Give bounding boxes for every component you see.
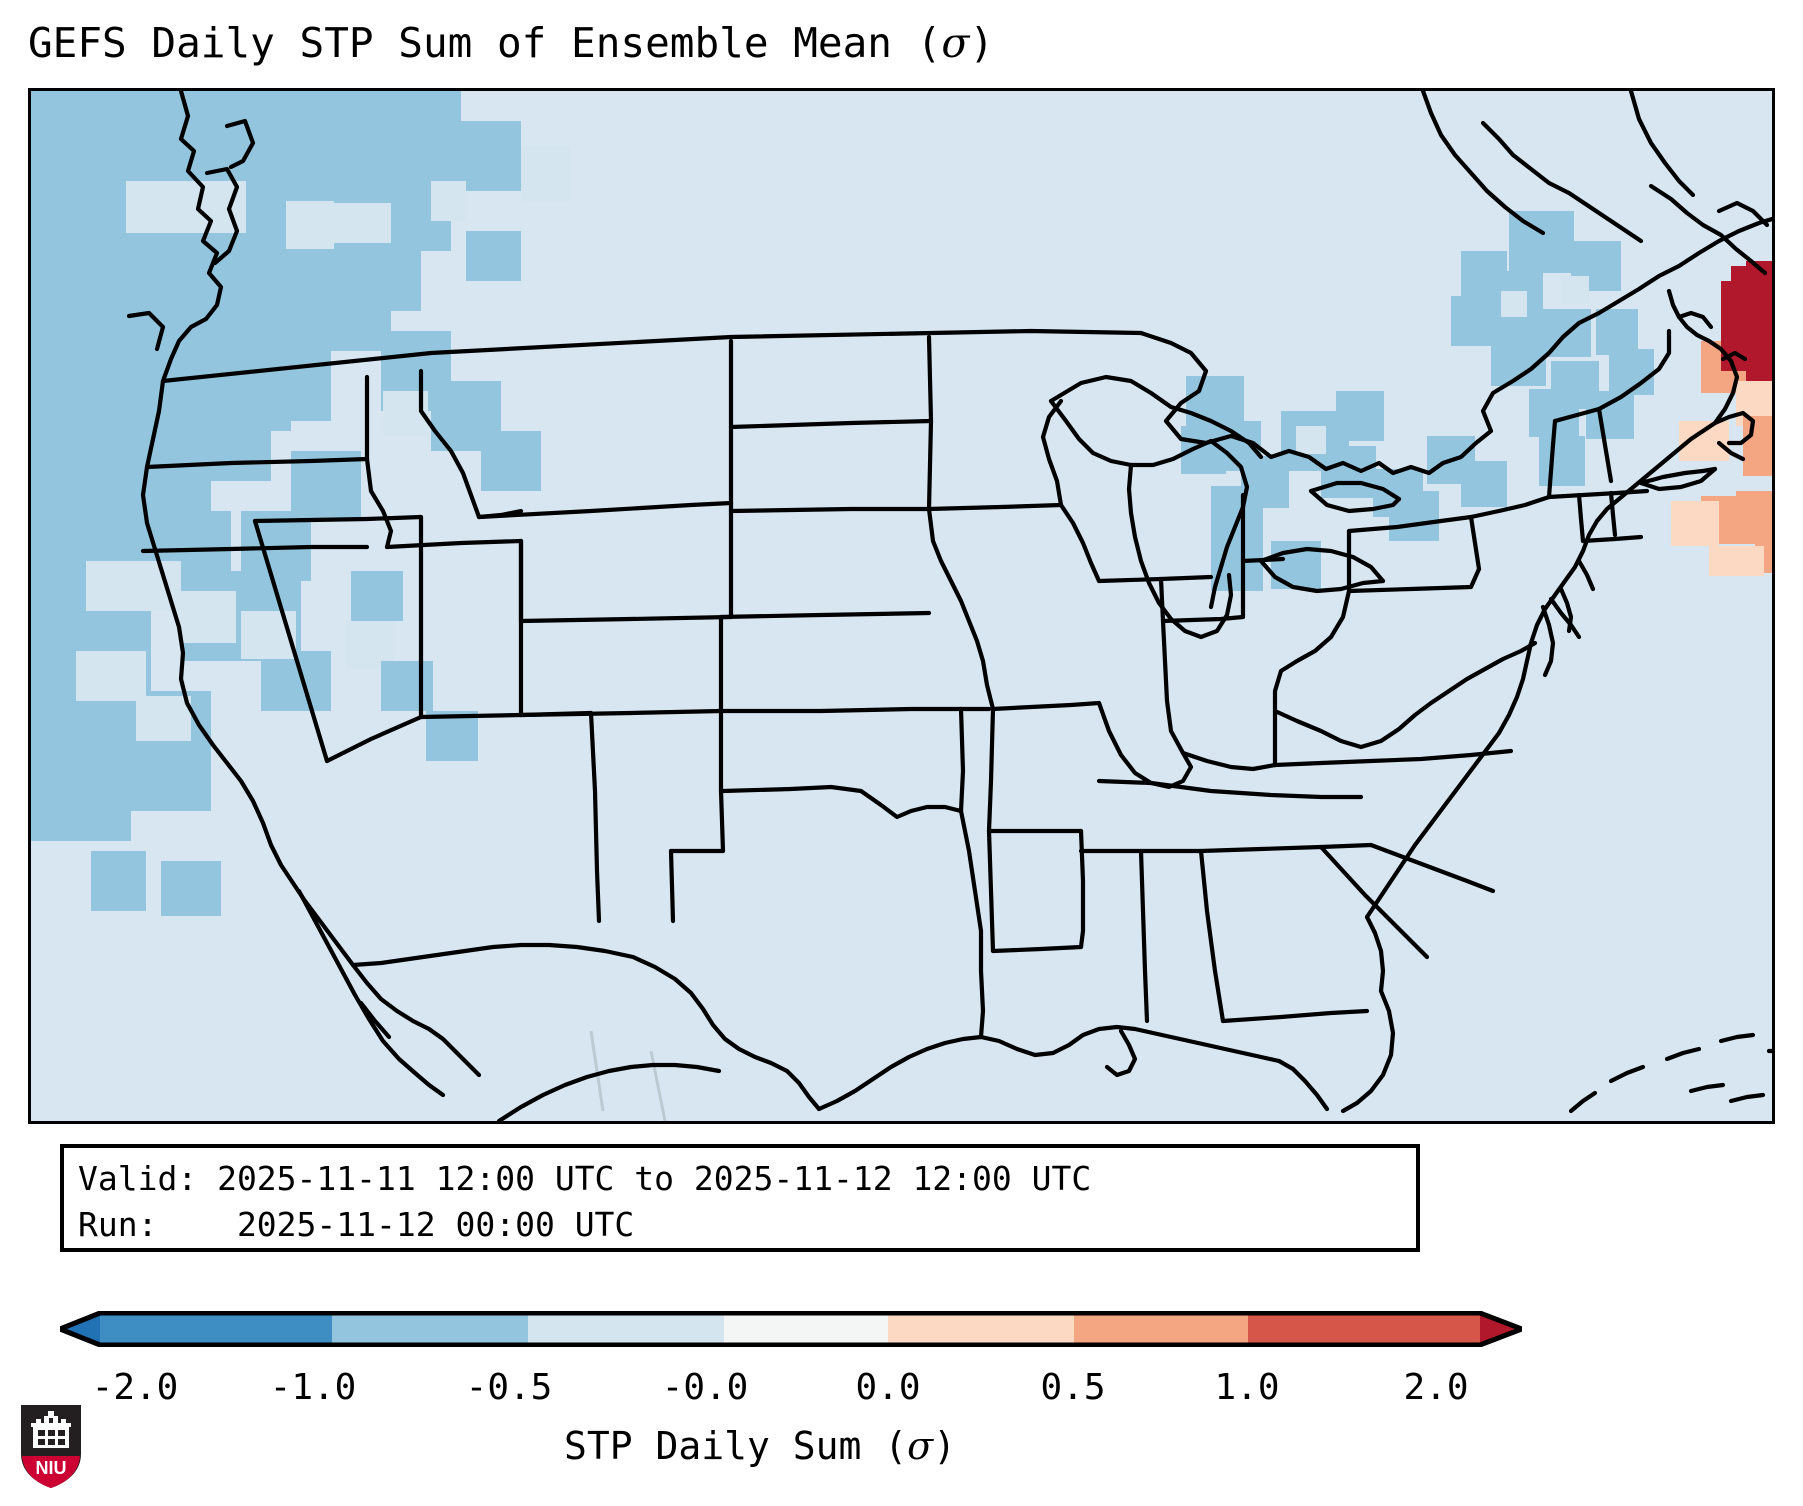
colorbar-tick-0.5: 0.5 [1040, 1368, 1105, 1408]
colorbar-band-0.0-0.5 [888, 1313, 1074, 1345]
colorbar-tick-2.0: 2.0 [1403, 1368, 1468, 1408]
page-title-tail: ) [969, 19, 994, 67]
colorbar-sigma-symbol: σ [907, 1424, 933, 1468]
colorbar-tick-0.0: 0.0 [855, 1368, 920, 1408]
colorbar[interactable] [60, 1311, 1522, 1347]
valid-time-line: Valid: 2025-11-11 12:00 UTC to 2025-11-1… [78, 1156, 1402, 1202]
colorbar-band-0.5-1.0 [1074, 1313, 1248, 1345]
colorbar-tick--0.0: -0.0 [662, 1368, 749, 1408]
map-panel[interactable] [28, 88, 1775, 1124]
niu-logo: NIU [18, 1402, 84, 1490]
page-title: GEFS Daily STP Sum of Ensemble Mean (σ) [28, 16, 994, 70]
colorbar-svg [60, 1311, 1522, 1347]
colorbar-band--2.0--1.0 [100, 1313, 332, 1345]
colorbar-tick--2.0: -2.0 [92, 1368, 179, 1408]
page-title-text: GEFS Daily STP Sum of Ensemble Mean ( [28, 19, 941, 67]
colorbar-tick--1.0: -1.0 [270, 1368, 357, 1408]
map-svg [31, 91, 1772, 1121]
colorbar-tick-1.0: 1.0 [1214, 1368, 1279, 1408]
colorbar-band-1.0-2.0 [1248, 1313, 1480, 1345]
colorbar-axis-label-text: STP Daily Sum ( [564, 1424, 907, 1468]
colorbar-band--0.5--0.0 [528, 1313, 724, 1345]
colorbar-band--0.0-0.0 [724, 1313, 888, 1345]
sigma-symbol: σ [941, 19, 969, 67]
colorbar-tick--0.5: -0.5 [466, 1368, 553, 1408]
colorbar-axis-label-tail: ) [933, 1424, 956, 1468]
colorbar-axis-label: STP Daily Sum (σ) [0, 1424, 1520, 1468]
colorbar-tick-labels: -2.0 -1.0 -0.5 -0.0 0.0 0.5 1.0 2.0 [0, 1368, 1803, 1412]
info-box: Valid: 2025-11-11 12:00 UTC to 2025-11-1… [60, 1144, 1420, 1252]
figure-canvas: GEFS Daily STP Sum of Ensemble Mean (σ) [0, 0, 1803, 1506]
niu-logo-svg: NIU [18, 1402, 84, 1490]
colorbar-band--1.0--0.5 [332, 1313, 528, 1345]
niu-logo-text: NIU [36, 1458, 67, 1478]
run-time-line: Run: 2025-11-12 00:00 UTC [78, 1202, 1402, 1248]
